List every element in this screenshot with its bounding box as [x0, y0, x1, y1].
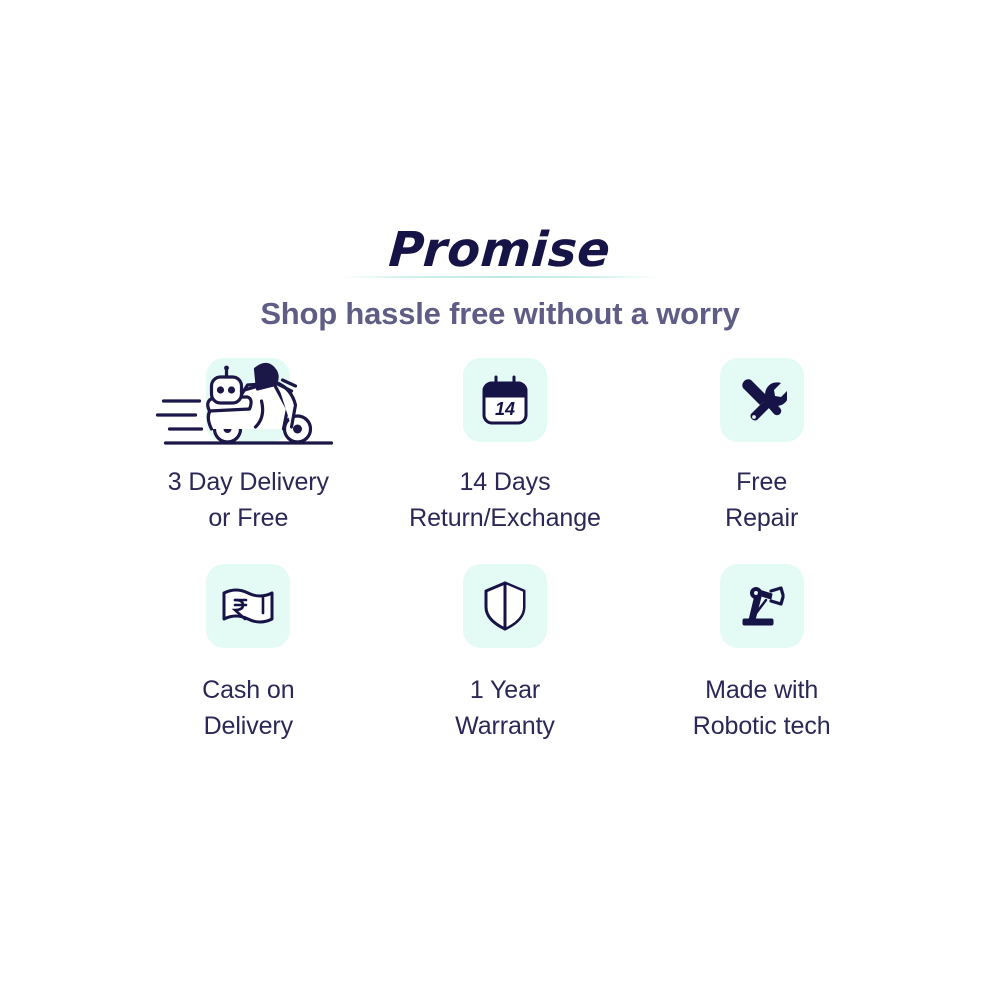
calendar-14-icon: 14 [479, 374, 531, 426]
robotic-arm-icon [737, 583, 787, 629]
calendar-day-number: 14 [495, 399, 515, 419]
page-title: Promise [387, 222, 612, 278]
promise-item-warranty: 1 Year Warranty [377, 564, 634, 744]
promise-icon-tile [720, 564, 804, 648]
promise-section: Promise Shop hassle free without a worry [0, 0, 1000, 1000]
promise-icon-tile [206, 358, 290, 442]
promise-item-delivery: 3 Day Delivery or Free [120, 358, 377, 536]
promise-item-label: Made with Robotic tech [693, 672, 831, 744]
scooter-delivery-icon [156, 345, 341, 455]
promise-icon-tile [720, 358, 804, 442]
promise-icon-tile: 14 [463, 358, 547, 442]
shield-warranty-icon [482, 580, 528, 632]
promise-header: Promise Shop hassle free without a worry [0, 222, 1000, 278]
promise-item-label: 1 Year Warranty [455, 672, 555, 744]
promise-item-label: Free Repair [725, 464, 798, 536]
promise-item-label: 3 Day Delivery or Free [168, 464, 329, 536]
promise-grid: 3 Day Delivery or Free 14 14 Days Return… [120, 358, 890, 744]
page-subtitle: Shop hassle free without a worry [0, 294, 1000, 334]
promise-icon-tile [206, 564, 290, 648]
promise-icon-tile [463, 564, 547, 648]
promise-item-repair: Free Repair [633, 358, 890, 536]
promise-item-robotic: Made with Robotic tech [633, 564, 890, 744]
cash-banknote-rupee-icon [221, 585, 275, 627]
tools-wrench-screwdriver-icon [737, 375, 787, 425]
promise-item-label: 14 Days Return/Exchange [409, 464, 601, 536]
promise-item-label: Cash on Delivery [202, 672, 294, 744]
promise-item-cash: Cash on Delivery [120, 564, 377, 744]
promise-item-return: 14 14 Days Return/Exchange [377, 358, 634, 536]
title-divider [340, 276, 660, 278]
